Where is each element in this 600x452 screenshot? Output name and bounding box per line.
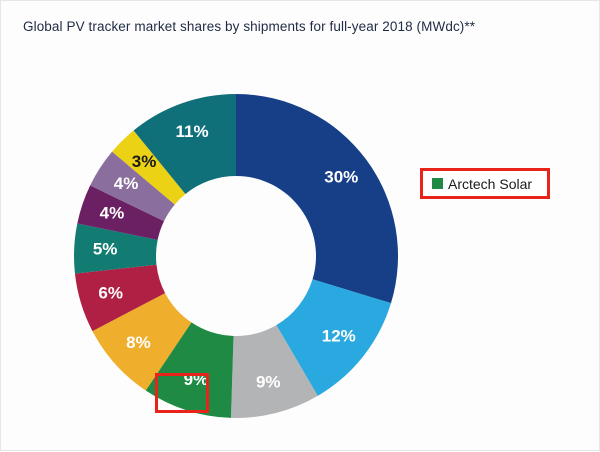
donut-slice-label: 30%	[324, 167, 358, 186]
legend[interactable]: Arctech Solar	[420, 168, 550, 199]
arctech-highlight-box	[155, 373, 209, 413]
legend-swatch-icon	[432, 178, 443, 189]
donut-slice-label: 4%	[100, 203, 125, 222]
donut-slice-label: 3%	[132, 152, 157, 171]
donut-slice-label: 12%	[322, 327, 356, 346]
donut-chart-svg: 30%12%9%9%8%6%5%4%4%3%11%	[1, 1, 600, 452]
donut-slice-label: 5%	[93, 239, 118, 258]
donut-slices	[74, 94, 398, 418]
donut-slice-label: 8%	[126, 333, 151, 352]
donut-slice-label: 9%	[256, 372, 281, 391]
chart-figure: Global PV tracker market shares by shipm…	[0, 0, 600, 451]
donut-slice-label: 11%	[176, 122, 209, 141]
legend-item-label: Arctech Solar	[448, 176, 532, 192]
donut-chart: 30%12%9%9%8%6%5%4%4%3%11%	[1, 1, 600, 452]
donut-slice-label: 6%	[98, 284, 123, 303]
donut-slice-label: 4%	[114, 174, 139, 193]
donut-slice[interactable]	[236, 94, 398, 303]
